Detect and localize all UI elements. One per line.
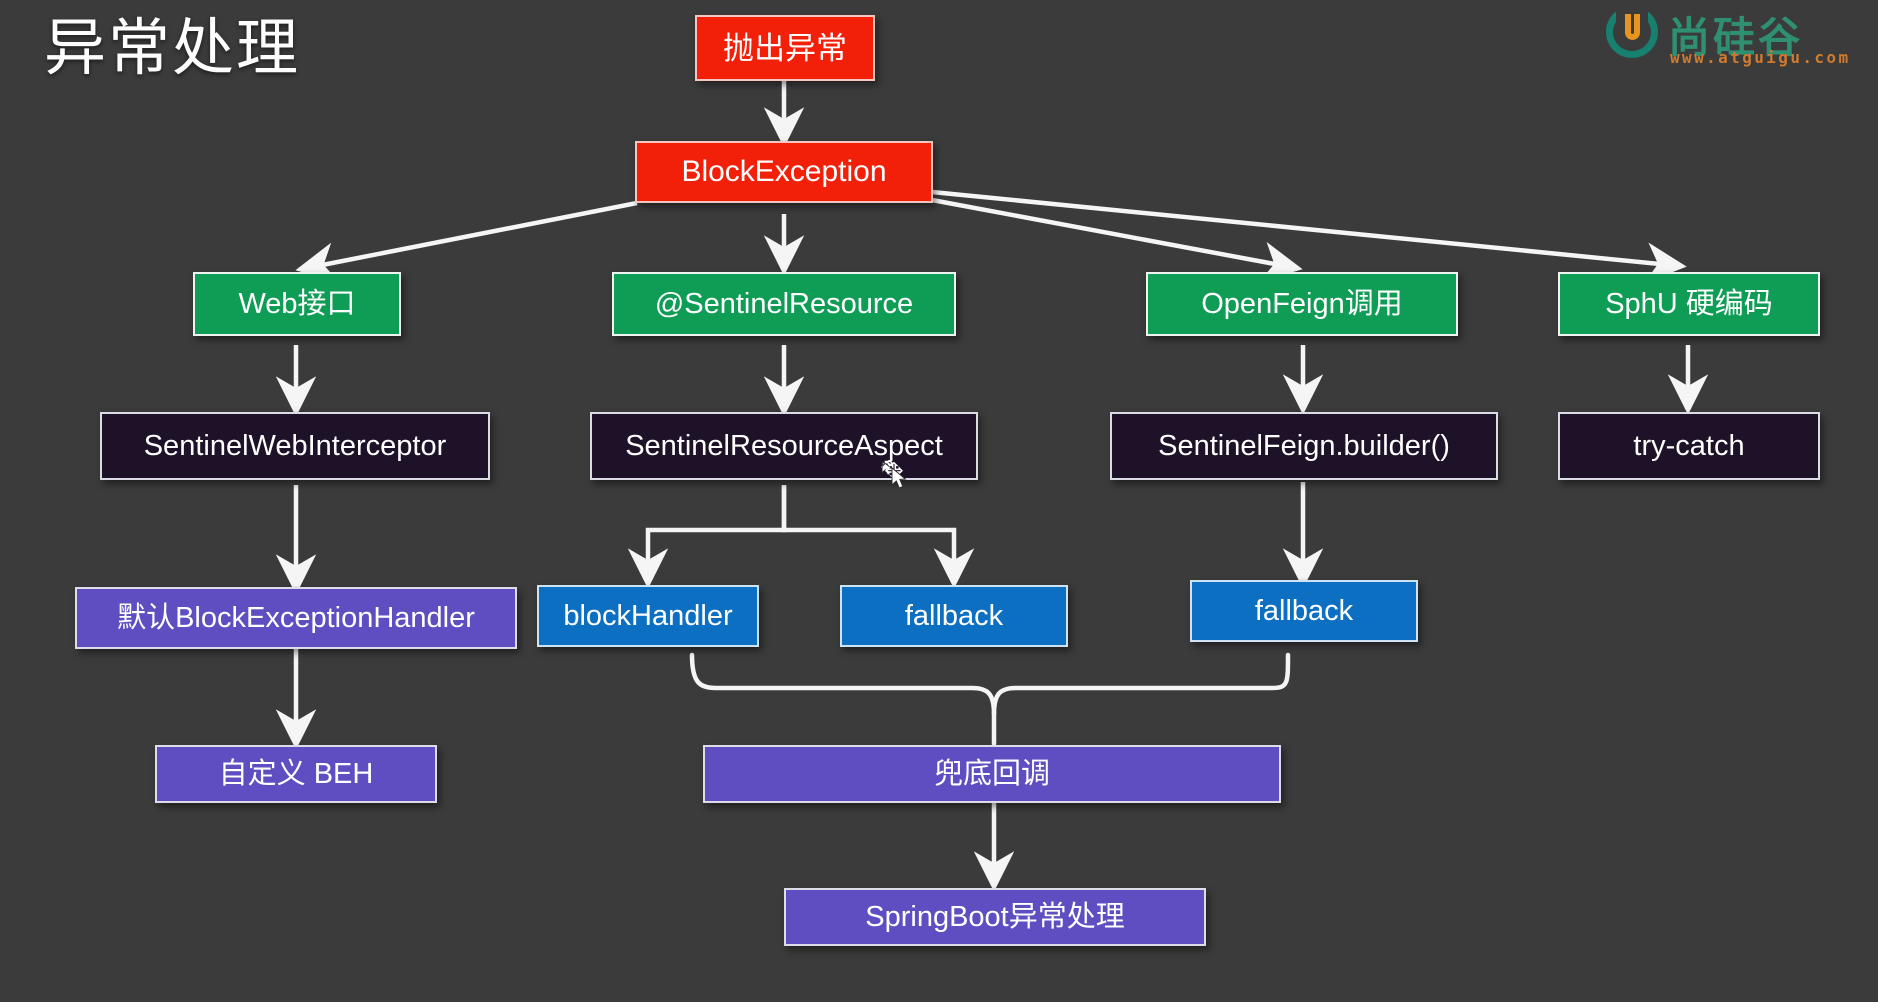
node-web-api[interactable]: Web接口 [193,272,401,336]
node-throw-exception[interactable]: 抛出异常 [695,15,875,81]
node-fallback-resource[interactable]: fallback [840,585,1068,647]
node-custom-beh[interactable]: 自定义 BEH [155,745,437,803]
node-sentinel-resource[interactable]: @SentinelResource [612,272,956,336]
node-springboot-exception-handling[interactable]: SpringBoot异常处理 [784,888,1206,946]
node-try-catch[interactable]: try-catch [1558,412,1820,480]
edge-resourceaspect-blockhandler [648,485,784,582]
node-sentinel-resource-aspect[interactable]: SentinelResourceAspect [590,412,978,480]
edge-brace-to-dodicallback [692,655,1288,714]
edge-resourceaspect-fallback1 [784,485,954,582]
diagram-canvas: 异常处理 尚硅谷 www.atguigu.com [0,0,1878,1002]
edge-blockexception-sphu [932,192,1680,266]
node-sphu-hardcode[interactable]: SphU 硬编码 [1558,272,1820,336]
node-sentinel-web-interceptor[interactable]: SentinelWebInterceptor [100,412,490,480]
edge-blockexception-webapi [302,203,637,269]
node-blockexception[interactable]: BlockException [635,141,933,203]
node-sentinel-feign-builder[interactable]: SentinelFeign.builder() [1110,412,1498,480]
move-cursor [880,460,918,500]
node-fallback-feign[interactable]: fallback [1190,580,1418,642]
node-default-block-exception-handler[interactable]: 默认BlockExceptionHandler [75,587,517,649]
node-openfeign-call[interactable]: OpenFeign调用 [1146,272,1458,336]
node-block-handler[interactable]: blockHandler [537,585,759,647]
node-fallback-callback[interactable]: 兜底回调 [703,745,1281,803]
connector-layer [0,0,1878,1002]
